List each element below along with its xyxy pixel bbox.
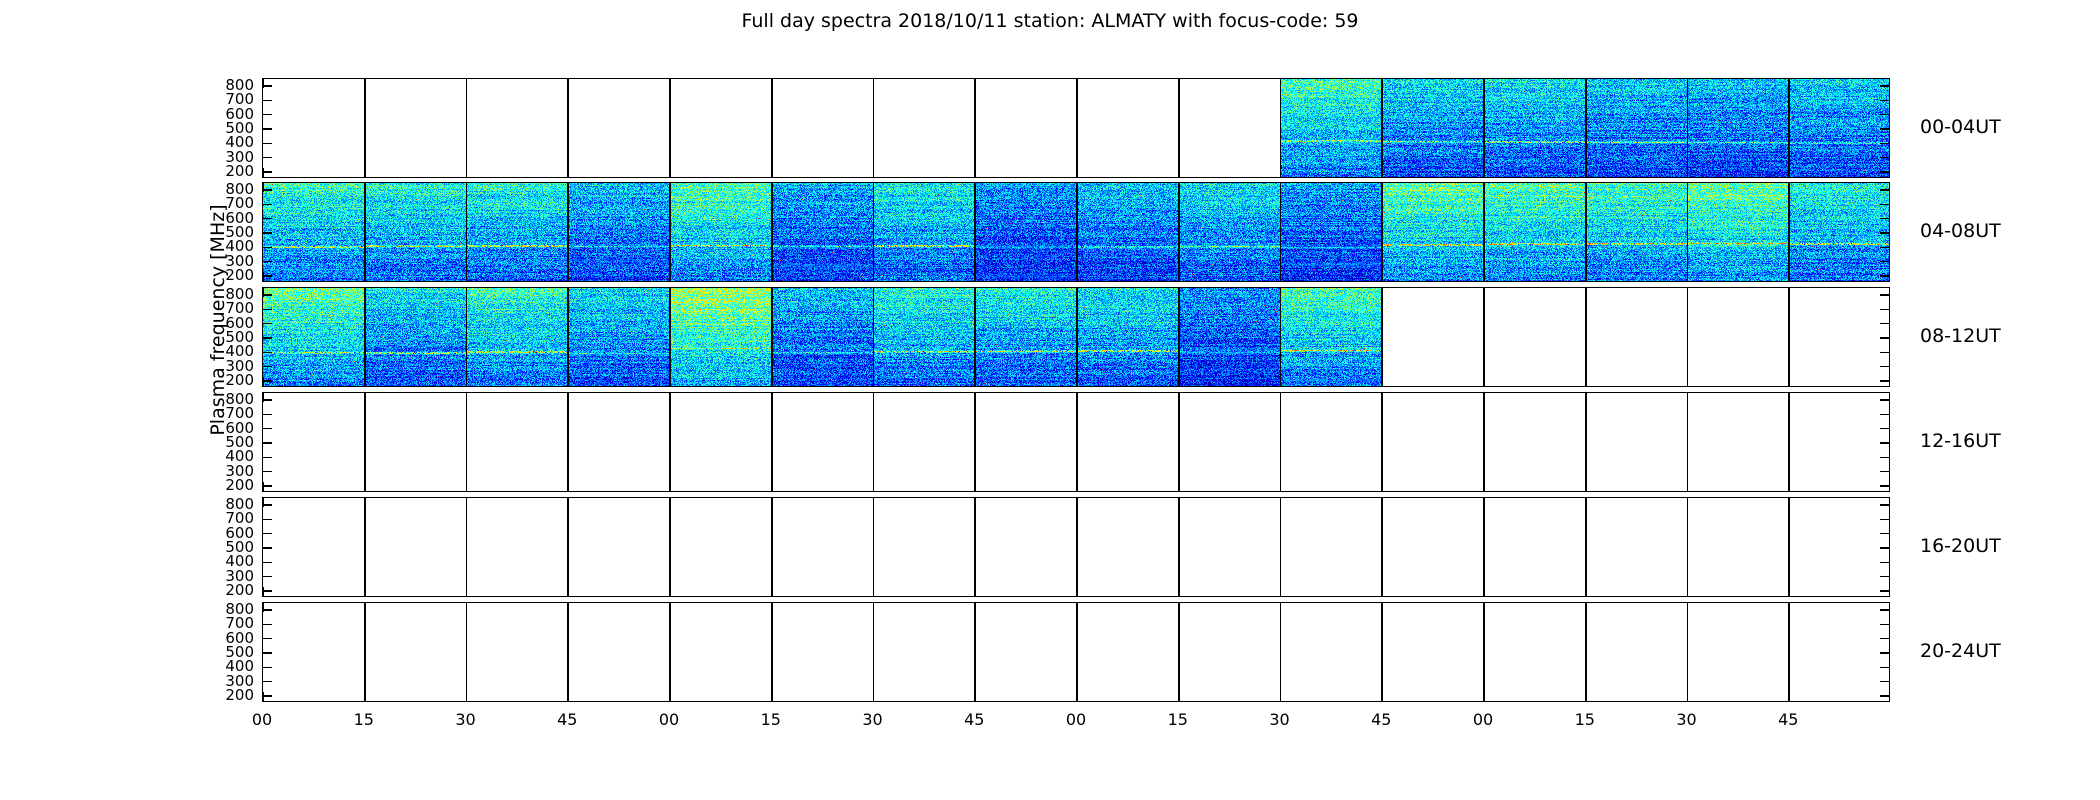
x-tick-label: 15 xyxy=(741,712,801,728)
panel-time-label-20-24ut: 20-24UT xyxy=(1920,642,2001,661)
spectrogram-panel-00-04ut[interactable] xyxy=(262,78,1890,178)
spectrogram-image xyxy=(263,393,1890,492)
y-tick-label: 200 xyxy=(200,583,254,598)
page-title: Full day spectra 2018/10/11 station: ALM… xyxy=(0,10,2100,32)
y-tick-label: 200 xyxy=(200,164,254,179)
x-tick-label: 00 xyxy=(1453,712,1513,728)
x-tick-label: 45 xyxy=(1758,712,1818,728)
x-tick-label: 00 xyxy=(1046,712,1106,728)
x-tick-label: 15 xyxy=(1555,712,1615,728)
figure-canvas: Full day spectra 2018/10/11 station: ALM… xyxy=(0,0,2100,800)
spectrogram-panel-12-16ut[interactable] xyxy=(262,392,1890,492)
x-tick-label: 45 xyxy=(944,712,1004,728)
x-tick-label: 30 xyxy=(436,712,496,728)
spectrogram-image xyxy=(263,79,1890,178)
y-tick-label: 200 xyxy=(200,478,254,493)
spectrogram-panel-08-12ut[interactable] xyxy=(262,287,1890,387)
spectrogram-image xyxy=(263,498,1890,597)
panel-time-label-12-16ut: 12-16UT xyxy=(1920,432,2001,451)
y-tick-label: 200 xyxy=(200,688,254,703)
x-tick-label: 45 xyxy=(537,712,597,728)
y-tick-label: 200 xyxy=(200,373,254,388)
spectrogram-panel-20-24ut[interactable] xyxy=(262,602,1890,702)
x-tick-label: 15 xyxy=(1148,712,1208,728)
y-tick-label: 200 xyxy=(200,268,254,283)
panel-time-label-08-12ut: 08-12UT xyxy=(1920,327,2001,346)
x-tick-label: 15 xyxy=(334,712,394,728)
spectrogram-image xyxy=(263,603,1890,702)
x-tick-label: 00 xyxy=(639,712,699,728)
x-tick-label: 00 xyxy=(232,712,292,728)
spectrogram-panel-16-20ut[interactable] xyxy=(262,497,1890,597)
panel-time-label-16-20ut: 16-20UT xyxy=(1920,537,2001,556)
spectrogram-image xyxy=(263,183,1890,282)
spectrogram-panel-04-08ut[interactable] xyxy=(262,182,1890,282)
panel-time-label-04-08ut: 04-08UT xyxy=(1920,222,2001,241)
panel-time-label-00-04ut: 00-04UT xyxy=(1920,118,2001,137)
x-tick-label: 30 xyxy=(1250,712,1310,728)
x-tick-label: 30 xyxy=(1657,712,1717,728)
x-tick-label: 30 xyxy=(843,712,903,728)
spectrogram-image xyxy=(263,288,1890,387)
x-tick-label: 45 xyxy=(1351,712,1411,728)
